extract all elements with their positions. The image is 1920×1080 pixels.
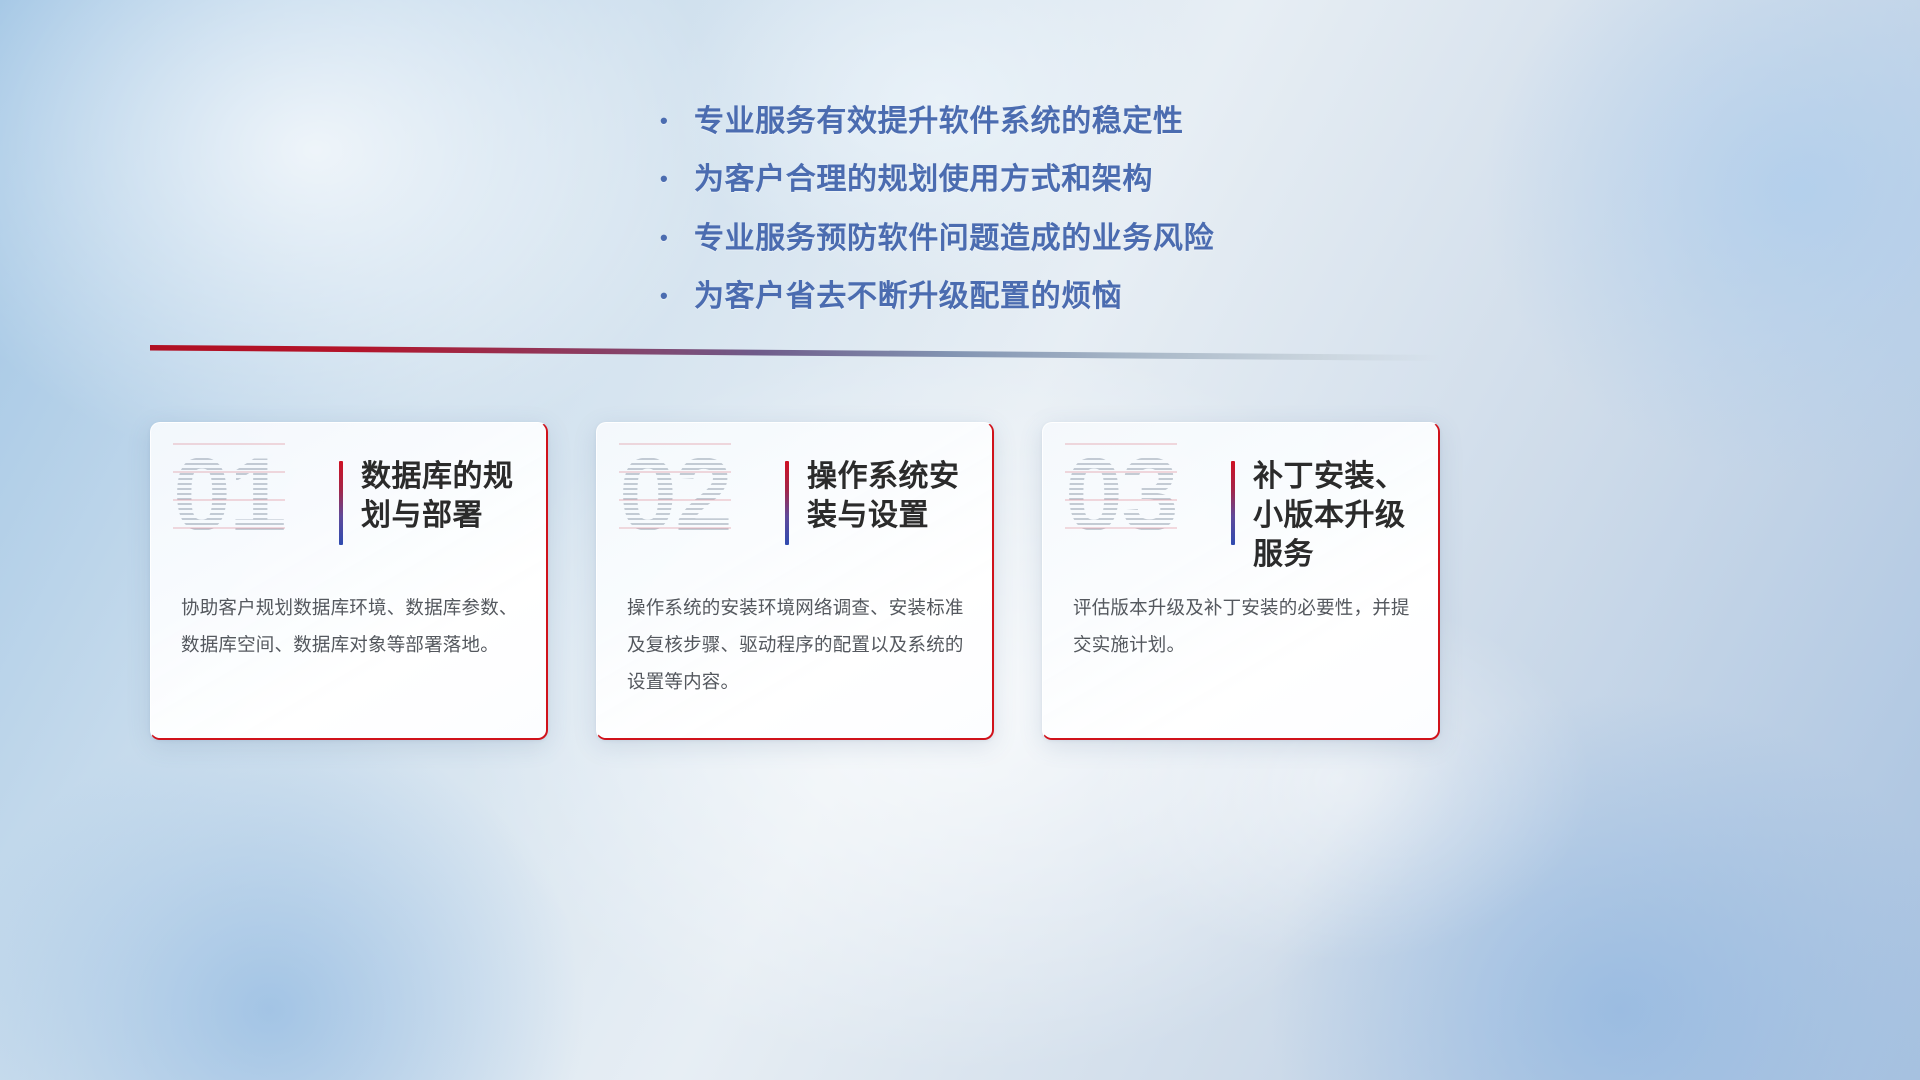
- bullet-text: 专业服务预防软件问题造成的业务风险: [694, 221, 1420, 256]
- card-accent-bar: [1231, 461, 1235, 545]
- card-title: 数据库的规划与部署: [361, 457, 532, 535]
- bullet-marker-icon: •: [660, 162, 694, 195]
- section-divider: [150, 345, 1440, 361]
- bullet-item: • 专业服务有效提升软件系统的稳定性: [660, 104, 1420, 139]
- card-border-fade-right: [991, 423, 994, 481]
- bullet-item: • 专业服务预防软件问题造成的业务风险: [660, 221, 1420, 256]
- bullet-marker-icon: •: [660, 104, 694, 137]
- card-title: 补丁安装、小版本升级服务: [1253, 457, 1424, 574]
- service-card[interactable]: 03 补丁安装、小版本升级服务 评估版本升级及补丁安装的必要性，并提交实施计划。: [1042, 422, 1440, 740]
- card-body-text: 操作系统的安装环境网络调查、安装标准及复核步骤、驱动程序的配置以及系统的设置等内…: [627, 589, 970, 700]
- card-accent-bar: [339, 461, 343, 545]
- bullet-item: • 为客户省去不断升级配置的烦恼: [660, 279, 1420, 314]
- bullet-text: 专业服务有效提升软件系统的稳定性: [694, 104, 1420, 139]
- card-border-fade-right: [545, 423, 548, 481]
- slide-canvas: • 专业服务有效提升软件系统的稳定性 • 为客户合理的规划使用方式和架构 • 专…: [0, 0, 1920, 1080]
- service-card[interactable]: 01 数据库的规划与部署 协助客户规划数据库环境、数据库参数、数据库空间、数据库…: [150, 422, 548, 740]
- card-border-fade-bottom: [597, 737, 659, 740]
- bullet-marker-icon: •: [660, 279, 694, 312]
- card-body-text: 评估版本升级及补丁安装的必要性，并提交实施计划。: [1073, 589, 1416, 663]
- bullet-item: • 为客户合理的规划使用方式和架构: [660, 162, 1420, 197]
- card-number-watermark: 03: [1065, 443, 1177, 547]
- bullet-marker-icon: •: [660, 221, 694, 254]
- card-header: 数据库的规划与部署: [339, 457, 532, 545]
- card-header: 操作系统安装与设置: [785, 457, 978, 545]
- card-header: 补丁安装、小版本升级服务: [1231, 457, 1424, 574]
- service-card[interactable]: 02 操作系统安装与设置 操作系统的安装环境网络调查、安装标准及复核步骤、驱动程…: [596, 422, 994, 740]
- card-title: 操作系统安装与设置: [807, 457, 978, 535]
- benefits-bullet-list: • 专业服务有效提升软件系统的稳定性 • 为客户合理的规划使用方式和架构 • 专…: [660, 104, 1420, 338]
- bullet-text: 为客户省去不断升级配置的烦恼: [694, 279, 1420, 314]
- card-body-text: 协助客户规划数据库环境、数据库参数、数据库空间、数据库对象等部署落地。: [181, 589, 524, 663]
- card-number-watermark: 01: [173, 443, 285, 547]
- card-border-fade-bottom: [151, 737, 213, 740]
- card-border-fade-right: [1437, 423, 1440, 481]
- divider-gradient-line: [150, 345, 1440, 361]
- bullet-text: 为客户合理的规划使用方式和架构: [694, 162, 1420, 197]
- card-border-fade-bottom: [1043, 737, 1105, 740]
- card-accent-bar: [785, 461, 789, 545]
- service-card-row: 01 数据库的规划与部署 协助客户规划数据库环境、数据库参数、数据库空间、数据库…: [150, 422, 1440, 742]
- card-number-watermark: 02: [619, 443, 731, 547]
